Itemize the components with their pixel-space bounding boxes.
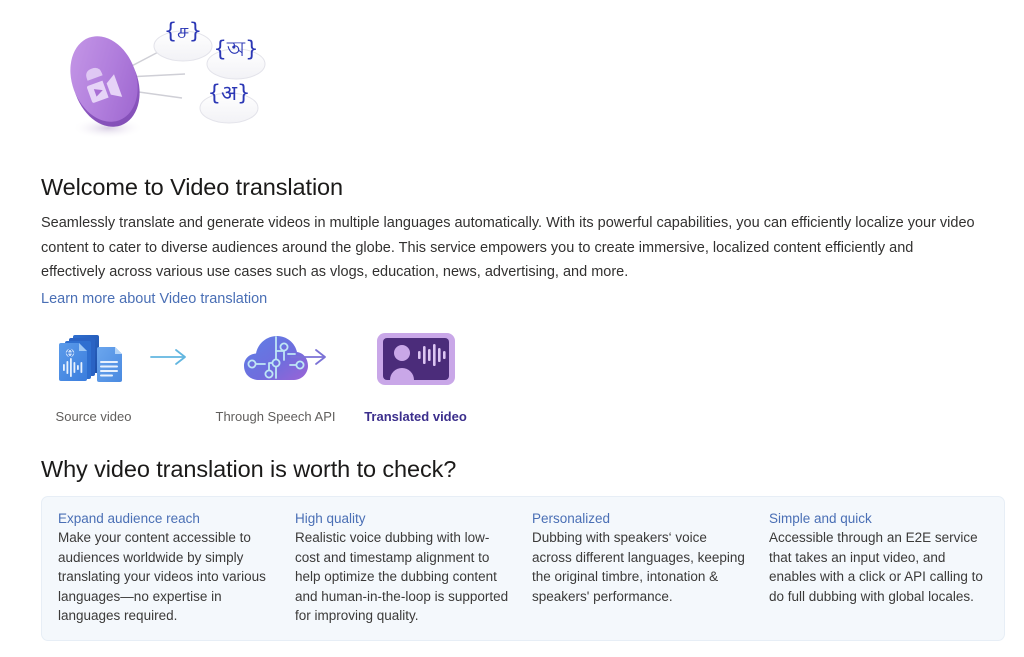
benefits-panel: Expand audience reach Make your content … xyxy=(41,496,1005,641)
why-section-title: Why video translation is worth to check? xyxy=(41,456,456,483)
language-bubble-tamil: {ச} xyxy=(154,19,212,61)
benefit-body: Realistic voice dubbing with low-cost an… xyxy=(295,528,510,626)
learn-more-link[interactable]: Learn more about Video translation xyxy=(41,291,267,307)
flow-step-translated-video: Translated video xyxy=(333,330,498,424)
flow-step-label: Translated video xyxy=(333,409,498,424)
language-bubble-bengali: {অ} xyxy=(207,37,265,79)
benefit-card: Personalized Dubbing with speakers‘ voic… xyxy=(532,511,769,630)
benefit-body: Dubbing with speakers‘ voice across diff… xyxy=(532,528,747,606)
process-flow-diagram: Source video xyxy=(41,330,461,430)
benefit-heading: Expand audience reach xyxy=(58,511,273,526)
intro-paragraph: Seamlessly translate and generate videos… xyxy=(41,211,981,285)
page-title: Welcome to Video translation xyxy=(41,174,343,201)
svg-text:{अ}: {अ} xyxy=(208,81,251,105)
arrow-right-icon xyxy=(288,346,330,368)
benefit-heading: High quality xyxy=(295,511,510,526)
documents-audio-stack-icon xyxy=(41,330,146,388)
benefit-card: High quality Realistic voice dubbing wit… xyxy=(295,511,532,630)
video-translation-hero-illustration: {ச} {অ} {अ} xyxy=(52,2,282,157)
video-translation-welcome-page: {ச} {অ} {अ} Welcome to Video translation… xyxy=(0,0,1024,657)
benefit-body: Accessible through an E2E service that t… xyxy=(769,528,984,606)
benefit-card: Simple and quick Accessible through an E… xyxy=(769,511,988,630)
benefit-body: Make your content accessible to audience… xyxy=(58,528,273,626)
benefit-card: Expand audience reach Make your content … xyxy=(58,511,295,630)
svg-text:{ச}: {ச} xyxy=(164,19,202,43)
flow-step-label: Source video xyxy=(41,409,146,424)
benefit-heading: Personalized xyxy=(532,511,747,526)
svg-text:{অ}: {অ} xyxy=(214,37,259,61)
video-camera-disc-icon xyxy=(59,27,151,137)
translated-video-avatar-waveform-icon xyxy=(333,330,498,388)
language-bubble-devanagari: {अ} xyxy=(200,81,258,123)
benefit-heading: Simple and quick xyxy=(769,511,984,526)
flow-step-source-video: Source video xyxy=(41,330,146,424)
